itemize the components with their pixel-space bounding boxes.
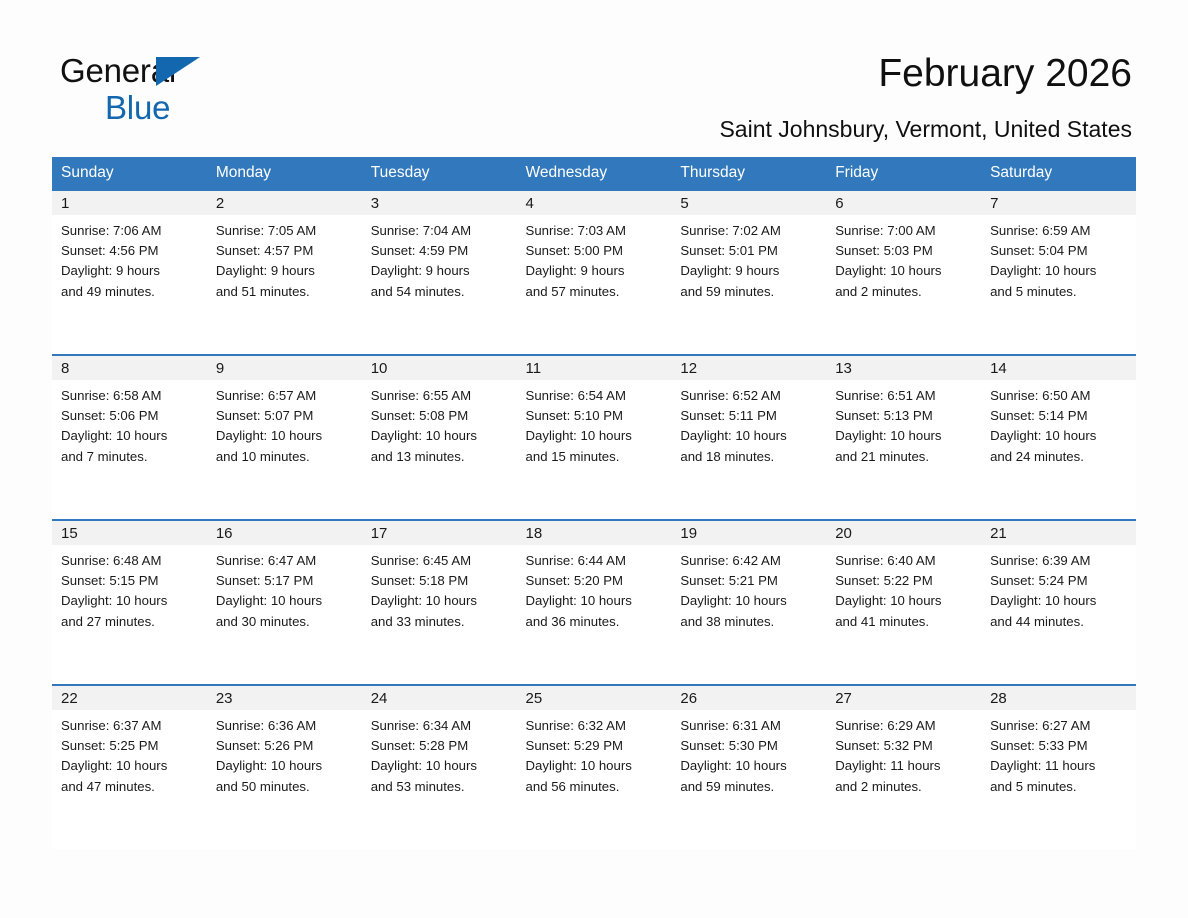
daylight-text-line2: and 33 minutes.	[371, 612, 509, 632]
sunset-text: Sunset: 5:28 PM	[371, 736, 509, 756]
calendar-header-row: Sunday Monday Tuesday Wednesday Thursday…	[52, 157, 1136, 190]
day-details: Sunrise: 6:37 AM Sunset: 5:25 PM Dayligh…	[52, 710, 207, 797]
sunrise-text: Sunrise: 7:02 AM	[680, 221, 818, 241]
calendar-day-cell[interactable]: 12 Sunrise: 6:52 AM Sunset: 5:11 PM Dayl…	[671, 355, 826, 520]
daylight-text-line2: and 27 minutes.	[61, 612, 199, 632]
sunrise-text: Sunrise: 7:05 AM	[216, 221, 354, 241]
sunset-text: Sunset: 5:01 PM	[680, 241, 818, 261]
daylight-text-line2: and 7 minutes.	[61, 447, 199, 467]
day-details: Sunrise: 7:05 AM Sunset: 4:57 PM Dayligh…	[207, 215, 362, 302]
calendar-day-cell[interactable]: 11 Sunrise: 6:54 AM Sunset: 5:10 PM Dayl…	[517, 355, 672, 520]
sunrise-text: Sunrise: 6:27 AM	[990, 716, 1128, 736]
calendar-day-cell[interactable]: 26 Sunrise: 6:31 AM Sunset: 5:30 PM Dayl…	[671, 685, 826, 849]
daylight-text-line2: and 13 minutes.	[371, 447, 509, 467]
daylight-text-line1: Daylight: 10 hours	[216, 591, 354, 611]
day-details: Sunrise: 7:02 AM Sunset: 5:01 PM Dayligh…	[671, 215, 826, 302]
daylight-text-line2: and 49 minutes.	[61, 282, 199, 302]
daylight-text-line1: Daylight: 10 hours	[990, 261, 1128, 281]
day-number: 17	[362, 521, 517, 545]
sunrise-text: Sunrise: 6:48 AM	[61, 551, 199, 571]
day-number: 22	[52, 686, 207, 710]
daylight-text-line1: Daylight: 10 hours	[526, 756, 664, 776]
general-blue-logo[interactable]: General Blue	[60, 54, 280, 120]
calendar-week-row: 15 Sunrise: 6:48 AM Sunset: 5:15 PM Dayl…	[52, 520, 1136, 685]
daylight-text-line1: Daylight: 9 hours	[61, 261, 199, 281]
daylight-text-line1: Daylight: 10 hours	[680, 426, 818, 446]
day-details: Sunrise: 6:42 AM Sunset: 5:21 PM Dayligh…	[671, 545, 826, 632]
weekday-header-saturday: Saturday	[981, 157, 1136, 190]
calendar-day-cell[interactable]: 13 Sunrise: 6:51 AM Sunset: 5:13 PM Dayl…	[826, 355, 981, 520]
sunrise-text: Sunrise: 6:29 AM	[835, 716, 973, 736]
calendar-day-cell[interactable]: 6 Sunrise: 7:00 AM Sunset: 5:03 PM Dayli…	[826, 190, 981, 355]
calendar-day-cell[interactable]: 16 Sunrise: 6:47 AM Sunset: 5:17 PM Dayl…	[207, 520, 362, 685]
day-number: 2	[207, 191, 362, 215]
sunrise-text: Sunrise: 6:42 AM	[680, 551, 818, 571]
daylight-text-line1: Daylight: 10 hours	[835, 261, 973, 281]
daylight-text-line2: and 38 minutes.	[680, 612, 818, 632]
daylight-text-line2: and 18 minutes.	[680, 447, 818, 467]
day-details: Sunrise: 6:32 AM Sunset: 5:29 PM Dayligh…	[517, 710, 672, 797]
daylight-text-line1: Daylight: 10 hours	[216, 756, 354, 776]
calendar-day-cell[interactable]: 19 Sunrise: 6:42 AM Sunset: 5:21 PM Dayl…	[671, 520, 826, 685]
day-details: Sunrise: 7:06 AM Sunset: 4:56 PM Dayligh…	[52, 215, 207, 302]
sunset-text: Sunset: 5:03 PM	[835, 241, 973, 261]
day-number: 8	[52, 356, 207, 380]
day-number: 3	[362, 191, 517, 215]
daylight-text-line2: and 5 minutes.	[990, 282, 1128, 302]
daylight-text-line2: and 57 minutes.	[526, 282, 664, 302]
sunrise-text: Sunrise: 6:39 AM	[990, 551, 1128, 571]
page-subtitle-location: Saint Johnsbury, Vermont, United States	[719, 116, 1132, 143]
sunset-text: Sunset: 5:08 PM	[371, 406, 509, 426]
daylight-text-line2: and 30 minutes.	[216, 612, 354, 632]
day-number: 12	[671, 356, 826, 380]
day-number: 7	[981, 191, 1136, 215]
day-details: Sunrise: 6:52 AM Sunset: 5:11 PM Dayligh…	[671, 380, 826, 467]
daylight-text-line2: and 59 minutes.	[680, 282, 818, 302]
day-details: Sunrise: 7:00 AM Sunset: 5:03 PM Dayligh…	[826, 215, 981, 302]
sunset-text: Sunset: 5:22 PM	[835, 571, 973, 591]
page-title: February 2026	[878, 52, 1132, 96]
day-number: 25	[517, 686, 672, 710]
daylight-text-line2: and 2 minutes.	[835, 282, 973, 302]
day-details: Sunrise: 6:31 AM Sunset: 5:30 PM Dayligh…	[671, 710, 826, 797]
calendar-day-cell[interactable]: 8 Sunrise: 6:58 AM Sunset: 5:06 PM Dayli…	[52, 355, 207, 520]
logo-text-blue: Blue	[60, 91, 280, 124]
daylight-text-line1: Daylight: 10 hours	[216, 426, 354, 446]
daylight-text-line2: and 47 minutes.	[61, 777, 199, 797]
day-details: Sunrise: 7:03 AM Sunset: 5:00 PM Dayligh…	[517, 215, 672, 302]
calendar-day-cell[interactable]: 28 Sunrise: 6:27 AM Sunset: 5:33 PM Dayl…	[981, 685, 1136, 849]
daylight-text-line2: and 24 minutes.	[990, 447, 1128, 467]
day-details: Sunrise: 6:34 AM Sunset: 5:28 PM Dayligh…	[362, 710, 517, 797]
sunset-text: Sunset: 5:11 PM	[680, 406, 818, 426]
sunrise-text: Sunrise: 7:06 AM	[61, 221, 199, 241]
sunrise-text: Sunrise: 7:03 AM	[526, 221, 664, 241]
sunset-text: Sunset: 5:33 PM	[990, 736, 1128, 756]
sunset-text: Sunset: 5:26 PM	[216, 736, 354, 756]
daylight-text-line2: and 53 minutes.	[371, 777, 509, 797]
sunrise-text: Sunrise: 6:45 AM	[371, 551, 509, 571]
day-number: 16	[207, 521, 362, 545]
calendar-day-cell[interactable]: 17 Sunrise: 6:45 AM Sunset: 5:18 PM Dayl…	[362, 520, 517, 685]
daylight-text-line1: Daylight: 10 hours	[371, 591, 509, 611]
sunrise-text: Sunrise: 6:57 AM	[216, 386, 354, 406]
sunset-text: Sunset: 5:06 PM	[61, 406, 199, 426]
calendar-day-cell[interactable]: 20 Sunrise: 6:40 AM Sunset: 5:22 PM Dayl…	[826, 520, 981, 685]
daylight-text-line2: and 21 minutes.	[835, 447, 973, 467]
calendar-day-cell[interactable]: 9 Sunrise: 6:57 AM Sunset: 5:07 PM Dayli…	[207, 355, 362, 520]
general-blue-triangle-icon	[156, 57, 200, 86]
sunset-text: Sunset: 5:21 PM	[680, 571, 818, 591]
sunrise-text: Sunrise: 6:51 AM	[835, 386, 973, 406]
sunset-text: Sunset: 5:07 PM	[216, 406, 354, 426]
sunrise-text: Sunrise: 6:54 AM	[526, 386, 664, 406]
daylight-text-line2: and 59 minutes.	[680, 777, 818, 797]
daylight-text-line1: Daylight: 11 hours	[990, 756, 1128, 776]
calendar-week-row: 22 Sunrise: 6:37 AM Sunset: 5:25 PM Dayl…	[52, 685, 1136, 849]
day-details: Sunrise: 6:58 AM Sunset: 5:06 PM Dayligh…	[52, 380, 207, 467]
calendar-day-cell[interactable]: 3 Sunrise: 7:04 AM Sunset: 4:59 PM Dayli…	[362, 190, 517, 355]
daylight-text-line2: and 41 minutes.	[835, 612, 973, 632]
sunset-text: Sunset: 5:13 PM	[835, 406, 973, 426]
sunset-text: Sunset: 4:57 PM	[216, 241, 354, 261]
day-details: Sunrise: 7:04 AM Sunset: 4:59 PM Dayligh…	[362, 215, 517, 302]
sunrise-text: Sunrise: 6:37 AM	[61, 716, 199, 736]
calendar-day-cell[interactable]: 7 Sunrise: 6:59 AM Sunset: 5:04 PM Dayli…	[981, 190, 1136, 355]
weekday-header-sunday: Sunday	[52, 157, 207, 190]
sunrise-text: Sunrise: 6:34 AM	[371, 716, 509, 736]
sunset-text: Sunset: 5:30 PM	[680, 736, 818, 756]
daylight-text-line1: Daylight: 10 hours	[526, 591, 664, 611]
day-details: Sunrise: 6:57 AM Sunset: 5:07 PM Dayligh…	[207, 380, 362, 467]
daylight-text-line1: Daylight: 9 hours	[216, 261, 354, 281]
day-number: 28	[981, 686, 1136, 710]
calendar-day-cell[interactable]: 5 Sunrise: 7:02 AM Sunset: 5:01 PM Dayli…	[671, 190, 826, 355]
day-details: Sunrise: 6:54 AM Sunset: 5:10 PM Dayligh…	[517, 380, 672, 467]
day-number: 18	[517, 521, 672, 545]
sunrise-text: Sunrise: 6:50 AM	[990, 386, 1128, 406]
daylight-text-line2: and 2 minutes.	[835, 777, 973, 797]
day-number: 5	[671, 191, 826, 215]
daylight-text-line2: and 5 minutes.	[990, 777, 1128, 797]
calendar-day-cell[interactable]: 27 Sunrise: 6:29 AM Sunset: 5:32 PM Dayl…	[826, 685, 981, 849]
sunset-text: Sunset: 5:29 PM	[526, 736, 664, 756]
day-details: Sunrise: 6:45 AM Sunset: 5:18 PM Dayligh…	[362, 545, 517, 632]
calendar-day-cell[interactable]: 21 Sunrise: 6:39 AM Sunset: 5:24 PM Dayl…	[981, 520, 1136, 685]
day-number: 6	[826, 191, 981, 215]
day-number: 9	[207, 356, 362, 380]
daylight-text-line1: Daylight: 10 hours	[371, 756, 509, 776]
day-details: Sunrise: 6:50 AM Sunset: 5:14 PM Dayligh…	[981, 380, 1136, 467]
calendar-day-cell[interactable]: 22 Sunrise: 6:37 AM Sunset: 5:25 PM Dayl…	[52, 685, 207, 849]
sunrise-text: Sunrise: 6:55 AM	[371, 386, 509, 406]
day-details: Sunrise: 6:59 AM Sunset: 5:04 PM Dayligh…	[981, 215, 1136, 302]
calendar-week-row: 8 Sunrise: 6:58 AM Sunset: 5:06 PM Dayli…	[52, 355, 1136, 520]
calendar-day-cell[interactable]: 24 Sunrise: 6:34 AM Sunset: 5:28 PM Dayl…	[362, 685, 517, 849]
day-details: Sunrise: 6:51 AM Sunset: 5:13 PM Dayligh…	[826, 380, 981, 467]
weekday-header-thursday: Thursday	[671, 157, 826, 190]
calendar-day-cell[interactable]: 14 Sunrise: 6:50 AM Sunset: 5:14 PM Dayl…	[981, 355, 1136, 520]
calendar-day-cell[interactable]: 23 Sunrise: 6:36 AM Sunset: 5:26 PM Dayl…	[207, 685, 362, 849]
weekday-header-friday: Friday	[826, 157, 981, 190]
daylight-text-line1: Daylight: 10 hours	[835, 426, 973, 446]
sunset-text: Sunset: 5:10 PM	[526, 406, 664, 426]
calendar-day-cell[interactable]: 15 Sunrise: 6:48 AM Sunset: 5:15 PM Dayl…	[52, 520, 207, 685]
sunrise-sunset-calendar: Sunday Monday Tuesday Wednesday Thursday…	[52, 157, 1136, 849]
weekday-header-tuesday: Tuesday	[362, 157, 517, 190]
day-number: 14	[981, 356, 1136, 380]
sunrise-text: Sunrise: 7:00 AM	[835, 221, 973, 241]
day-details: Sunrise: 6:48 AM Sunset: 5:15 PM Dayligh…	[52, 545, 207, 632]
day-number: 13	[826, 356, 981, 380]
day-number: 11	[517, 356, 672, 380]
sunrise-text: Sunrise: 6:44 AM	[526, 551, 664, 571]
sunset-text: Sunset: 4:59 PM	[371, 241, 509, 261]
calendar-day-cell[interactable]: 2 Sunrise: 7:05 AM Sunset: 4:57 PM Dayli…	[207, 190, 362, 355]
day-number: 19	[671, 521, 826, 545]
daylight-text-line2: and 36 minutes.	[526, 612, 664, 632]
daylight-text-line1: Daylight: 10 hours	[680, 591, 818, 611]
sunrise-text: Sunrise: 6:52 AM	[680, 386, 818, 406]
daylight-text-line1: Daylight: 10 hours	[990, 426, 1128, 446]
sunrise-text: Sunrise: 6:58 AM	[61, 386, 199, 406]
calendar-page: General Blue February 2026 Saint Johnsbu…	[0, 0, 1188, 918]
day-details: Sunrise: 6:55 AM Sunset: 5:08 PM Dayligh…	[362, 380, 517, 467]
day-number: 26	[671, 686, 826, 710]
daylight-text-line1: Daylight: 10 hours	[371, 426, 509, 446]
sunrise-text: Sunrise: 6:32 AM	[526, 716, 664, 736]
daylight-text-line2: and 15 minutes.	[526, 447, 664, 467]
sunset-text: Sunset: 5:24 PM	[990, 571, 1128, 591]
weekday-header-wednesday: Wednesday	[517, 157, 672, 190]
weekday-header-monday: Monday	[207, 157, 362, 190]
calendar-day-cell[interactable]: 1 Sunrise: 7:06 AM Sunset: 4:56 PM Dayli…	[52, 190, 207, 355]
calendar-body: 1 Sunrise: 7:06 AM Sunset: 4:56 PM Dayli…	[52, 190, 1136, 849]
sunset-text: Sunset: 4:56 PM	[61, 241, 199, 261]
sunset-text: Sunset: 5:04 PM	[990, 241, 1128, 261]
sunset-text: Sunset: 5:17 PM	[216, 571, 354, 591]
daylight-text-line2: and 50 minutes.	[216, 777, 354, 797]
calendar-day-cell[interactable]: 18 Sunrise: 6:44 AM Sunset: 5:20 PM Dayl…	[517, 520, 672, 685]
sunset-text: Sunset: 5:20 PM	[526, 571, 664, 591]
day-number: 20	[826, 521, 981, 545]
day-details: Sunrise: 6:36 AM Sunset: 5:26 PM Dayligh…	[207, 710, 362, 797]
day-details: Sunrise: 6:29 AM Sunset: 5:32 PM Dayligh…	[826, 710, 981, 797]
day-number: 10	[362, 356, 517, 380]
day-number: 23	[207, 686, 362, 710]
daylight-text-line1: Daylight: 9 hours	[680, 261, 818, 281]
day-number: 21	[981, 521, 1136, 545]
day-number: 4	[517, 191, 672, 215]
daylight-text-line2: and 51 minutes.	[216, 282, 354, 302]
calendar-day-cell[interactable]: 25 Sunrise: 6:32 AM Sunset: 5:29 PM Dayl…	[517, 685, 672, 849]
daylight-text-line1: Daylight: 10 hours	[61, 756, 199, 776]
sunset-text: Sunset: 5:14 PM	[990, 406, 1128, 426]
daylight-text-line1: Daylight: 10 hours	[61, 426, 199, 446]
calendar-day-cell[interactable]: 4 Sunrise: 7:03 AM Sunset: 5:00 PM Dayli…	[517, 190, 672, 355]
sunrise-text: Sunrise: 6:59 AM	[990, 221, 1128, 241]
day-details: Sunrise: 6:27 AM Sunset: 5:33 PM Dayligh…	[981, 710, 1136, 797]
daylight-text-line1: Daylight: 10 hours	[680, 756, 818, 776]
sunrise-text: Sunrise: 6:31 AM	[680, 716, 818, 736]
daylight-text-line1: Daylight: 9 hours	[526, 261, 664, 281]
sunrise-text: Sunrise: 6:36 AM	[216, 716, 354, 736]
sunset-text: Sunset: 5:15 PM	[61, 571, 199, 591]
sunset-text: Sunset: 5:18 PM	[371, 571, 509, 591]
daylight-text-line2: and 10 minutes.	[216, 447, 354, 467]
daylight-text-line1: Daylight: 9 hours	[371, 261, 509, 281]
calendar-day-cell[interactable]: 10 Sunrise: 6:55 AM Sunset: 5:08 PM Dayl…	[362, 355, 517, 520]
sunrise-text: Sunrise: 7:04 AM	[371, 221, 509, 241]
sunset-text: Sunset: 5:32 PM	[835, 736, 973, 756]
sunset-text: Sunset: 5:25 PM	[61, 736, 199, 756]
daylight-text-line2: and 44 minutes.	[990, 612, 1128, 632]
daylight-text-line1: Daylight: 10 hours	[990, 591, 1128, 611]
day-details: Sunrise: 6:47 AM Sunset: 5:17 PM Dayligh…	[207, 545, 362, 632]
daylight-text-line2: and 54 minutes.	[371, 282, 509, 302]
calendar-week-row: 1 Sunrise: 7:06 AM Sunset: 4:56 PM Dayli…	[52, 190, 1136, 355]
daylight-text-line1: Daylight: 10 hours	[835, 591, 973, 611]
daylight-text-line1: Daylight: 10 hours	[61, 591, 199, 611]
sunrise-text: Sunrise: 6:47 AM	[216, 551, 354, 571]
sunset-text: Sunset: 5:00 PM	[526, 241, 664, 261]
day-details: Sunrise: 6:44 AM Sunset: 5:20 PM Dayligh…	[517, 545, 672, 632]
day-details: Sunrise: 6:40 AM Sunset: 5:22 PM Dayligh…	[826, 545, 981, 632]
day-number: 1	[52, 191, 207, 215]
page-header: General Blue February 2026 Saint Johnsbu…	[0, 0, 1188, 110]
day-details: Sunrise: 6:39 AM Sunset: 5:24 PM Dayligh…	[981, 545, 1136, 632]
daylight-text-line1: Daylight: 11 hours	[835, 756, 973, 776]
logo-top-row: General	[60, 54, 280, 90]
daylight-text-line1: Daylight: 10 hours	[526, 426, 664, 446]
sunrise-text: Sunrise: 6:40 AM	[835, 551, 973, 571]
day-number: 27	[826, 686, 981, 710]
day-number: 24	[362, 686, 517, 710]
daylight-text-line2: and 56 minutes.	[526, 777, 664, 797]
day-number: 15	[52, 521, 207, 545]
